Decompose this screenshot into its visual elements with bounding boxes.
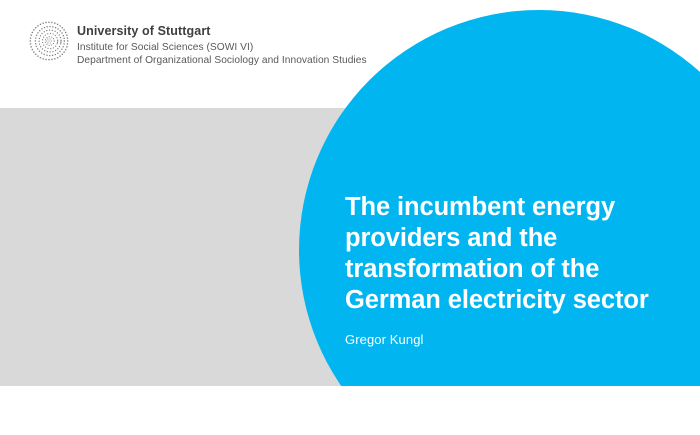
institute-name: Institute for Social Sciences (SOWI VI)	[77, 43, 367, 53]
slide-header: University of Stuttgart Institute for So…	[0, 0, 700, 108]
organization-name: University of Stuttgart	[77, 25, 367, 38]
slide-title: The incumbent energy providers and the t…	[345, 192, 695, 316]
department-name: Department of Organizational Sociology a…	[77, 56, 367, 66]
title-block: The incumbent energy providers and the t…	[345, 192, 695, 347]
organization-text-block: University of Stuttgart Institute for So…	[77, 25, 367, 69]
slide-footer	[0, 386, 700, 435]
slide-author: Gregor Kungl	[345, 332, 695, 347]
presentation-slide: University of Stuttgart Institute for So…	[0, 0, 700, 435]
university-logo-icon	[28, 20, 70, 62]
